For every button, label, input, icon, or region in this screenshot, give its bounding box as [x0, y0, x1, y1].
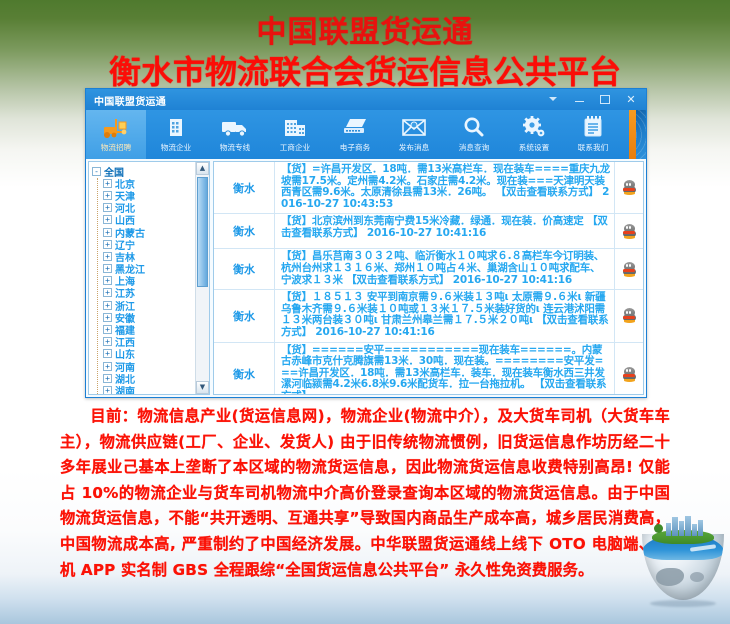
- expand-icon[interactable]: +: [103, 215, 112, 224]
- expand-icon[interactable]: +: [103, 313, 112, 322]
- qq-icon[interactable]: [614, 162, 643, 213]
- qq-icon[interactable]: [614, 214, 643, 248]
- scrollbar-thumb[interactable]: [197, 177, 208, 287]
- toolbar-item-logistics-jobs[interactable]: 物流招聘: [86, 110, 146, 159]
- message-row[interactable]: 衡水 【货】昌乐莒南３０３２吨、临沂衡水１０吨求６.８高栏车今订明装、杭州台州求…: [214, 249, 643, 290]
- region-tree-panel: - 全国 +北京 +天津 +河北 +山西 +内蒙古 +辽宁 +吉林 +黑龙江 +…: [88, 161, 210, 395]
- poster-body-text: 目前：物流信息产业(货运信息网)，物流企业(物流中介），及大货车司机（大货车车主…: [60, 404, 670, 583]
- expand-icon[interactable]: +: [103, 191, 112, 200]
- tree-item-province[interactable]: +河南: [92, 360, 196, 372]
- message-city: 衡水: [214, 343, 275, 395]
- tree-item-province[interactable]: +上海: [92, 275, 196, 287]
- message-body: 【货】=许昌开发区．18吨．需13米高栏车．现在装车====重庆九龙坡需17.5…: [275, 162, 614, 213]
- expand-icon[interactable]: +: [103, 240, 112, 249]
- message-body: 【货】昌乐莒南３０３２吨、临沂衡水１０吨求６.８高栏车今订明装、杭州台州求１３１…: [275, 249, 614, 289]
- app-window: 中国联盟货运通 ✕ 物流招聘: [85, 88, 647, 398]
- main-toolbar: 物流招聘 物流企业: [86, 110, 646, 159]
- tree-item-province[interactable]: +北京: [92, 177, 196, 189]
- toolbar-label: 工商企业: [280, 142, 310, 152]
- truck-icon: [220, 113, 250, 141]
- message-city: 衡水: [214, 290, 275, 341]
- message-city: 衡水: [214, 214, 275, 248]
- poster-title-line1: 中国联盟货运通: [0, 16, 730, 50]
- toolbar-item-industrial-commercial[interactable]: 工商企业: [265, 110, 325, 159]
- dropdown-icon[interactable]: [540, 90, 566, 108]
- forklift-icon: [102, 113, 130, 141]
- expand-icon[interactable]: +: [103, 288, 112, 297]
- close-icon[interactable]: ✕: [618, 90, 644, 108]
- window-controls: ✕: [540, 90, 644, 108]
- toolbar-item-logistics-companies[interactable]: 物流企业: [146, 110, 206, 159]
- toolbar-item-contact-us[interactable]: 联系我们: [563, 110, 623, 159]
- tree-scrollbar[interactable]: ▲ ▼: [195, 162, 209, 394]
- earth-globe-icon: [640, 516, 726, 608]
- expand-icon[interactable]: +: [103, 301, 112, 310]
- toolbar-label: 发布消息: [399, 142, 429, 152]
- message-timestamp: 2016-10-27 10:41:16: [315, 326, 434, 338]
- expand-icon[interactable]: +: [103, 203, 112, 212]
- message-timestamp: 2016-10-27 10:41:16: [367, 227, 486, 239]
- expand-icon[interactable]: +: [103, 325, 112, 334]
- message-content: 【货】======安平===========现在装车======。内蒙古赤峰市克…: [281, 344, 606, 395]
- maximize-icon[interactable]: [592, 90, 618, 108]
- toolbar-item-ecommerce[interactable]: 电子商务: [325, 110, 385, 159]
- expand-icon[interactable]: +: [103, 362, 112, 371]
- qq-icon[interactable]: [614, 343, 643, 395]
- expand-icon[interactable]: +: [103, 374, 112, 383]
- toolbar-label: 系统设置: [518, 142, 548, 152]
- tree-item-province[interactable]: +浙江: [92, 299, 196, 311]
- ecommerce-icon: [340, 113, 370, 141]
- tree-item-province[interactable]: +内蒙古: [92, 226, 196, 238]
- tree-item-province[interactable]: +天津: [92, 189, 196, 201]
- expand-icon[interactable]: +: [103, 228, 112, 237]
- toolbar-item-system-settings[interactable]: 系统设置: [504, 110, 564, 159]
- tree-item-province[interactable]: +安徽: [92, 311, 196, 323]
- minimize-icon[interactable]: [566, 90, 592, 108]
- tree-connector-line: [97, 178, 98, 394]
- message-city: 衡水: [214, 249, 275, 289]
- poster-heading: 中国联盟货运通 衡水市物流联合会货运信息公共平台: [0, 16, 730, 92]
- expand-icon[interactable]: +: [103, 276, 112, 285]
- tree-item-province[interactable]: +河北: [92, 202, 196, 214]
- tree-item-province[interactable]: +江西: [92, 336, 196, 348]
- message-body: 【货】北京滨州到东莞南宁费15米冷藏．绿通．现在装．价高速定 【双击查看联系方式…: [275, 214, 614, 248]
- tree-item-province[interactable]: +湖北: [92, 372, 196, 384]
- toolbar-label: 消息查询: [459, 142, 489, 152]
- expand-icon[interactable]: +: [103, 386, 112, 395]
- toolbar-label: 物流企业: [160, 142, 190, 152]
- toolbar-label: 联系我们: [578, 142, 608, 152]
- tree-item-national[interactable]: - 全国: [92, 165, 196, 177]
- toolbar-item-publish-message[interactable]: 发布消息: [384, 110, 444, 159]
- message-row[interactable]: 衡水 【货】北京滨州到东莞南宁费15米冷藏．绿通．现在装．价高速定 【双击查看联…: [214, 214, 643, 249]
- expand-icon[interactable]: +: [103, 252, 112, 261]
- message-city: 衡水: [214, 162, 275, 213]
- message-content: 【货】=许昌开发区．18吨．需13米高栏车．现在装车====重庆九龙坡需17.5…: [281, 163, 610, 198]
- qq-icon[interactable]: [614, 249, 643, 289]
- toolbar-label: 物流专线: [220, 142, 250, 152]
- toolbar-item-logistics-lines[interactable]: 物流专线: [205, 110, 265, 159]
- member-notice-banner[interactable]: 各位会员 要全方位测试 “货运通”功能！: [636, 110, 646, 159]
- magnifier-icon: [462, 113, 486, 141]
- scroll-down-icon[interactable]: ▼: [196, 381, 209, 394]
- tree-item-province[interactable]: +福建: [92, 323, 196, 335]
- gear-icon: [521, 113, 547, 141]
- poster-title-line2: 衡水市物流联合会货运信息公共平台: [0, 52, 730, 92]
- region-tree: - 全国 +北京 +天津 +河北 +山西 +内蒙古 +辽宁 +吉林 +黑龙江 +…: [89, 162, 196, 394]
- office-building-icon: [163, 113, 189, 141]
- toolbar-orange-accent: [629, 110, 636, 159]
- scroll-up-icon[interactable]: ▲: [196, 162, 209, 175]
- notepad-icon: [581, 113, 605, 141]
- message-body: 【货】１８５１３ 安平到南京需９.６米装１３吨ι 太原需９.６米ι 新疆乌鲁木齐…: [275, 290, 614, 341]
- window-title: 中国联盟货运通: [94, 93, 166, 108]
- expand-icon[interactable]: +: [103, 264, 112, 273]
- message-row[interactable]: 衡水 【货】=许昌开发区．18吨．需13米高栏车．现在装车====重庆九龙坡需1…: [214, 162, 643, 214]
- message-list: 衡水 【货】=许昌开发区．18吨．需13米高栏车．现在装车====重庆九龙坡需1…: [213, 161, 644, 395]
- tree-item-label: 湖南: [115, 383, 135, 395]
- envelope-icon: [400, 113, 428, 141]
- tree-item-province[interactable]: +辽宁: [92, 238, 196, 250]
- window-titlebar: 中国联盟货运通 ✕: [86, 89, 646, 110]
- qq-icon[interactable]: [614, 290, 643, 341]
- toolbar-item-message-query[interactable]: 消息查询: [444, 110, 504, 159]
- expand-icon[interactable]: +: [103, 337, 112, 346]
- message-row[interactable]: 衡水 【货】======安平===========现在装车======。内蒙古赤…: [214, 343, 643, 395]
- window-body: - 全国 +北京 +天津 +河北 +山西 +内蒙古 +辽宁 +吉林 +黑龙江 +…: [86, 159, 646, 397]
- tree-item-province[interactable]: +黑龙江: [92, 263, 196, 275]
- tree-item-province[interactable]: +山东: [92, 348, 196, 360]
- tree-item-province[interactable]: +湖南: [92, 384, 196, 395]
- message-body: 【货】======安平===========现在装车======。内蒙古赤峰市克…: [275, 343, 614, 395]
- message-timestamp: 2016-10-27 10:41:16: [453, 274, 572, 286]
- expand-icon[interactable]: +: [103, 179, 112, 188]
- message-row[interactable]: 衡水 【货】１８５１３ 安平到南京需９.６米装１３吨ι 太原需９.６米ι 新疆乌…: [214, 290, 643, 342]
- expand-icon[interactable]: +: [103, 349, 112, 358]
- tree-item-province[interactable]: +江苏: [92, 287, 196, 299]
- toolbar-label: 物流招聘: [101, 142, 131, 152]
- buildings-icon: [281, 113, 309, 141]
- toolbar-label: 电子商务: [339, 142, 369, 152]
- collapse-icon[interactable]: -: [92, 167, 101, 176]
